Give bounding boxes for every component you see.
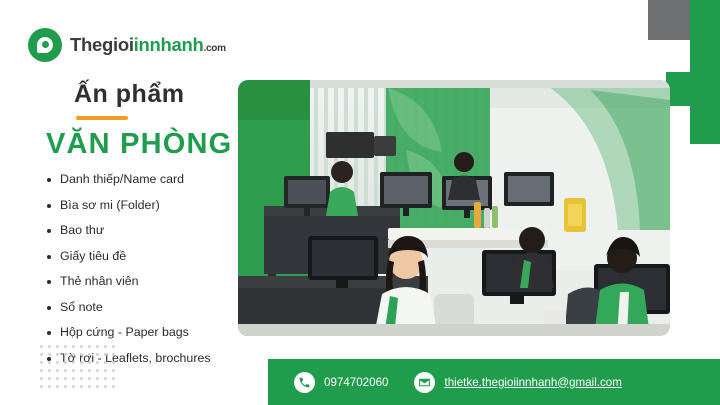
envelope-icon [414, 372, 435, 393]
brand-name-part1: Thegioi [70, 34, 134, 55]
office-workspace-photo [238, 80, 670, 336]
slide: Thegioiinnhanh.com Ấn phẩm VĂN PHÒNG Dan… [0, 0, 720, 405]
title-accent-rule [76, 116, 128, 120]
page-title-line2: VĂN PHÒNG [46, 128, 232, 161]
email-contact[interactable]: thietke.thegioiinnhanh@gmail.com [414, 372, 621, 393]
decorative-green-block-top [690, 0, 720, 72]
brand-name-part2: innhanh [134, 34, 204, 55]
decorative-green-block-fill [690, 106, 720, 144]
list-item: Giấy tiêu đề [46, 249, 236, 263]
phone-number: 0974702060 [324, 376, 388, 389]
phone-contact[interactable]: 0974702060 [294, 372, 388, 393]
list-item: Sổ note [46, 300, 236, 314]
decorative-green-block-mid [666, 72, 720, 106]
phone-icon [294, 372, 315, 393]
list-item: Bìa sơ mi (Folder) [46, 198, 236, 212]
list-item: Danh thiếp/Name card [46, 172, 236, 186]
page-title-line1: Ấn phẩm [74, 80, 184, 109]
decorative-dot-grid [40, 345, 118, 389]
decorative-gray-block [648, 0, 690, 40]
brand-name: Thegioiinnhanh.com [70, 34, 226, 56]
list-item: Bao thư [46, 223, 236, 237]
list-item: Thẻ nhân viên [46, 274, 236, 288]
brand-logo: Thegioiinnhanh.com [28, 28, 226, 62]
leaf-circle-icon [28, 28, 62, 62]
brand-name-suffix: .com [204, 43, 226, 54]
email-address: thietke.thegioiinnhanh@gmail.com [444, 376, 621, 389]
contact-footer: 0974702060 thietke.thegioiinnhanh@gmail.… [268, 359, 720, 405]
list-item: Hộp cứng - Paper bags [46, 325, 236, 339]
